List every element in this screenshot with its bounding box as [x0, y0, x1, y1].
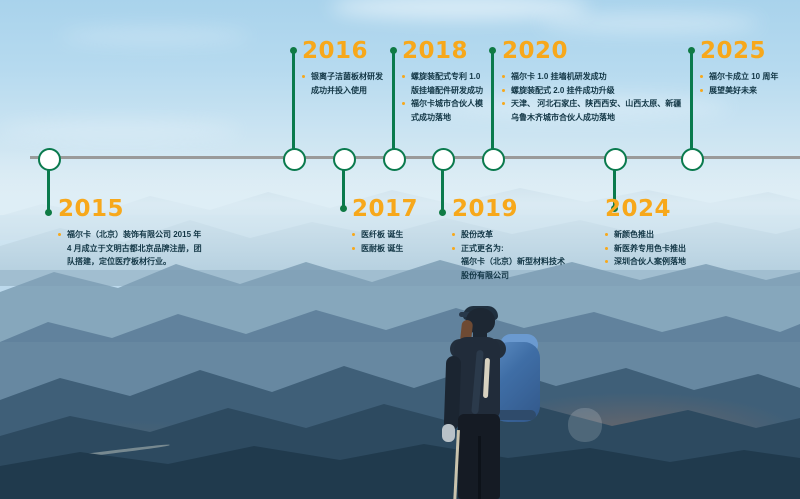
timeline-entry-2015[interactable]: 2015 福尔卡（北京）装饰有限公司 2015 年 4 月成立于文明古都北京品牌…: [58, 198, 202, 270]
timeline-stem-cap-2018: [390, 47, 397, 54]
timeline-stem-2018: [392, 50, 395, 150]
entry-line: 螺旋装配式 2.0 挂件成功升级: [502, 85, 681, 97]
entry-line: 股份改革: [452, 229, 565, 241]
entry-line: 深圳合伙人案例落地: [605, 256, 686, 268]
timeline-node-2019[interactable]: [432, 148, 455, 171]
entry-line: 福尔卡城市合伙人模: [402, 98, 483, 110]
entry-year-2024: 2024: [605, 198, 686, 221]
entry-line: 版挂墙配件研发成功: [402, 85, 483, 97]
entry-year-2018: 2018: [402, 40, 483, 63]
entry-line: 股份有限公司: [452, 270, 565, 282]
hiker-figure: [418, 306, 558, 499]
timeline-stem-2017: [342, 165, 345, 209]
entry-line: 乌鲁木齐城市合伙人成功落地: [502, 112, 681, 124]
timeline-stem-cap-2025: [688, 47, 695, 54]
hiker-leg-gap: [478, 436, 481, 499]
entry-line: 4 月成立于文明古都北京品牌注册，团: [58, 243, 202, 255]
timeline-stem-2020: [491, 50, 494, 150]
entry-year-2025: 2025: [700, 40, 778, 63]
entry-lines-2018: 螺旋装配式专利 1.0 版挂墙配件研发成功 福尔卡城市合伙人模 式成功落地: [402, 71, 483, 123]
entry-line: 银离子洁菌板材研发: [302, 71, 383, 83]
entry-lines-2019: 股份改革 正式更名为: 福尔卡（北京）新型材料技术 股份有限公司: [452, 229, 565, 281]
entry-lines-2017: 医纤板 诞生 医耐板 诞生: [352, 229, 418, 254]
timeline-entry-2025[interactable]: 2025 福尔卡成立 10 周年 展望美好未来: [700, 40, 778, 98]
entry-lines-2020: 福尔卡 1.0 挂墙机研发成功 螺旋装配式 2.0 挂件成功升级 天津、 河北石…: [502, 71, 681, 123]
entry-year-2020: 2020: [502, 40, 681, 63]
timeline-node-2025[interactable]: [681, 148, 704, 171]
entry-line: 式成功落地: [402, 112, 483, 124]
timeline-stem-cap-2017: [340, 205, 347, 212]
timeline-entry-2016[interactable]: 2016 银离子洁菌板材研发 成功并投入使用: [302, 40, 383, 98]
entry-lines-2015: 福尔卡（北京）装饰有限公司 2015 年 4 月成立于文明古都北京品牌注册，团 …: [58, 229, 202, 268]
timeline-entry-2017[interactable]: 2017 医纤板 诞生 医耐板 诞生: [352, 198, 418, 256]
timeline-node-2024[interactable]: [604, 148, 627, 171]
timeline-node-2020[interactable]: [482, 148, 505, 171]
entry-year-2019: 2019: [452, 198, 565, 221]
timeline-node-2015[interactable]: [38, 148, 61, 171]
entry-lines-2016: 银离子洁菌板材研发 成功并投入使用: [302, 71, 383, 96]
timeline-entry-2019[interactable]: 2019 股份改革 正式更名为: 福尔卡（北京）新型材料技术 股份有限公司: [452, 198, 565, 283]
entry-lines-2024: 新颜色推出 新医养专用色卡推出 深圳合伙人案例落地: [605, 229, 686, 268]
timeline-node-2018[interactable]: [383, 148, 406, 171]
timeline-stem-2016: [292, 50, 295, 150]
entry-year-2016: 2016: [302, 40, 383, 63]
timeline-stem-2019: [441, 165, 444, 213]
entry-line: 医纤板 诞生: [352, 229, 418, 241]
entry-line: 展望美好未来: [700, 85, 778, 97]
cloud: [0, 120, 240, 140]
entry-line: 队搭建，定位医疗板材行业。: [58, 256, 202, 268]
timeline-stem-cap-2015: [45, 209, 52, 216]
timeline-node-2016[interactable]: [283, 148, 306, 171]
timeline-entry-2020[interactable]: 2020 福尔卡 1.0 挂墙机研发成功 螺旋装配式 2.0 挂件成功升级 天津…: [502, 40, 681, 125]
entry-line: 福尔卡（北京）装饰有限公司 2015 年: [58, 229, 202, 241]
timeline-entry-2024[interactable]: 2024 新颜色推出 新医养专用色卡推出 深圳合伙人案例落地: [605, 198, 686, 270]
entry-line: 新颜色推出: [605, 229, 686, 241]
entry-line: 福尔卡（北京）新型材料技术: [452, 256, 565, 268]
backpack-pocket: [568, 408, 602, 442]
entry-line: 正式更名为:: [452, 243, 565, 255]
entry-lines-2025: 福尔卡成立 10 周年 展望美好未来: [700, 71, 778, 96]
timeline-stem-2025: [690, 50, 693, 150]
cloud: [540, 14, 760, 32]
timeline-stem-2015: [47, 165, 50, 213]
entry-line: 成功并投入使用: [302, 85, 383, 97]
entry-line: 天津、 河北石家庄、陕西西安、山西太原、新疆: [502, 98, 681, 110]
hiker-hand: [442, 424, 455, 442]
timeline-stem-cap-2020: [489, 47, 496, 54]
entry-line: 福尔卡 1.0 挂墙机研发成功: [502, 71, 681, 83]
cloud: [60, 28, 250, 44]
entry-line: 螺旋装配式专利 1.0: [402, 71, 483, 83]
entry-line: 新医养专用色卡推出: [605, 243, 686, 255]
timeline-entry-2018[interactable]: 2018 螺旋装配式专利 1.0 版挂墙配件研发成功 福尔卡城市合伙人模 式成功…: [402, 40, 483, 125]
entry-year-2017: 2017: [352, 198, 418, 221]
entry-line: 医耐板 诞生: [352, 243, 418, 255]
timeline-stem-cap-2016: [290, 47, 297, 54]
entry-year-2015: 2015: [58, 198, 202, 221]
entry-line: 福尔卡成立 10 周年: [700, 71, 778, 83]
timeline-node-2017[interactable]: [333, 148, 356, 171]
timeline-stem-cap-2019: [439, 209, 446, 216]
timeline-infographic: 2015 福尔卡（北京）装饰有限公司 2015 年 4 月成立于文明古都北京品牌…: [0, 0, 800, 499]
